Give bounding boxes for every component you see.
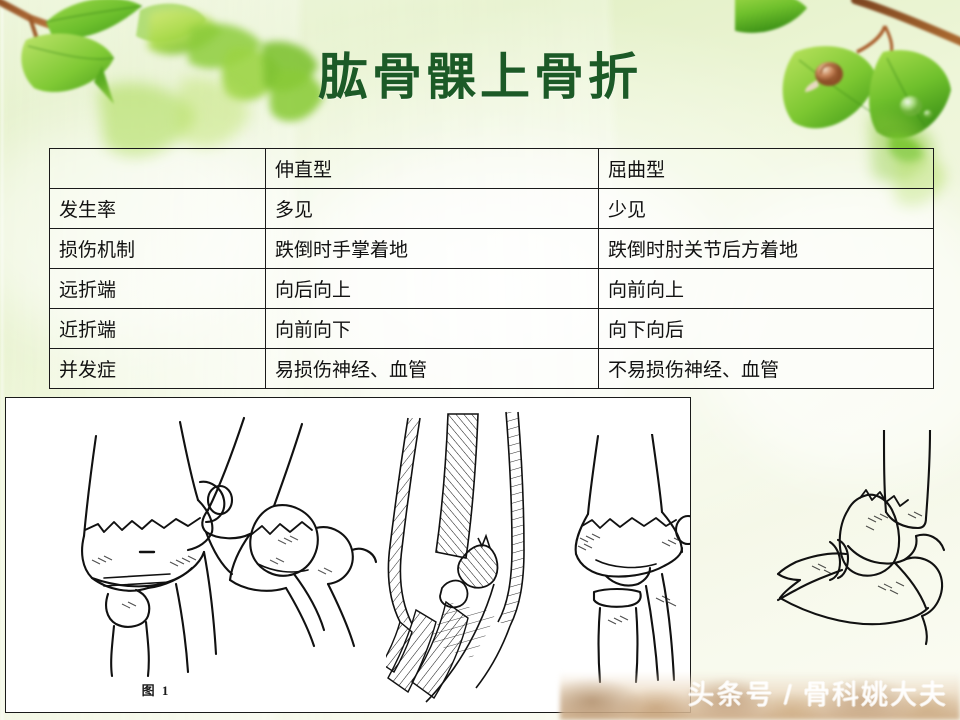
page-title: 肱骨髁上骨折 <box>0 48 960 106</box>
cell-complications-extension: 易损伤神经、血管 <box>266 349 599 389</box>
presentation-slide: 肱骨髁上骨折 伸直型 屈曲型 发生率 多见 少见 损伤机制 跌倒时手掌着地 跌倒… <box>0 0 960 720</box>
illustration-elbow-lateral-flexion-fracture <box>768 430 958 680</box>
cell-distal-fragment-extension: 向后向上 <box>266 269 599 309</box>
row-label-incidence: 发生率 <box>50 189 266 229</box>
table-cell-corner <box>50 149 266 189</box>
table-row-incidence: 发生率 多见 少见 <box>50 189 934 229</box>
cell-mechanism-extension: 跌倒时手掌着地 <box>266 229 599 269</box>
row-label-mechanism: 损伤机制 <box>50 229 266 269</box>
table-header-extension: 伸直型 <box>266 149 599 189</box>
cell-proximal-fragment-flexion: 向下向后 <box>599 309 934 349</box>
row-label-proximal-fragment: 近折端 <box>50 309 266 349</box>
watermark-text: 头条号 / 骨科姚大夫 <box>687 673 948 712</box>
table-row-mechanism: 损伤机制 跌倒时手掌着地 跌倒时肘关节后方着地 <box>50 229 934 269</box>
table-header-flexion: 屈曲型 <box>599 149 934 189</box>
cell-distal-fragment-flexion: 向前向上 <box>599 269 934 309</box>
row-label-distal-fragment: 远折端 <box>50 269 266 309</box>
illustration-elbow-flexed-soft-tissue-hatched <box>386 406 596 706</box>
cell-proximal-fragment-extension: 向前向下 <box>266 309 599 349</box>
illustration-elbow-ap-view-fracture <box>566 434 691 684</box>
comparison-table: 伸直型 屈曲型 发生率 多见 少见 损伤机制 跌倒时手掌着地 跌倒时肘关节后方着… <box>49 148 934 389</box>
cell-incidence-flexion: 少见 <box>599 189 934 229</box>
cell-mechanism-flexion: 跌倒时肘关节后方着地 <box>599 229 934 269</box>
cell-incidence-extension: 多见 <box>266 189 599 229</box>
table-row-proximal-fragment: 近折端 向前向下 向下向后 <box>50 309 934 349</box>
row-label-complications: 并发症 <box>50 349 266 389</box>
table-row-complications: 并发症 易损伤神经、血管 不易损伤神经、血管 <box>50 349 934 389</box>
cell-complications-flexion: 不易损伤神经、血管 <box>599 349 934 389</box>
table-row-distal-fragment: 远折端 向后向上 向前向上 <box>50 269 934 309</box>
table-row-header: 伸直型 屈曲型 <box>50 149 934 189</box>
figure-panel: 图 1 <box>5 397 691 713</box>
figure-caption: 图 1 <box>6 680 306 699</box>
